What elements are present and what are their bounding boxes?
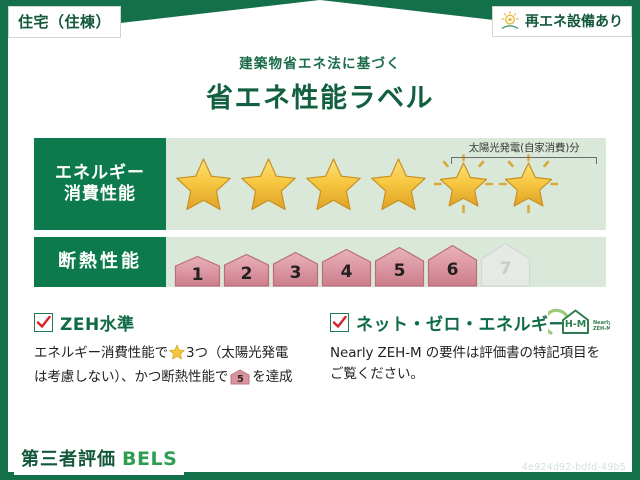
insulation-chips-body: 1 2 3 xyxy=(166,237,606,287)
evaluation-date: 評価日 2025年6月27日 xyxy=(465,440,626,460)
nze-note-title: ネット・ゼロ・エネルギー xyxy=(356,310,566,335)
zeh-body-star-count: 3つ（太陽光発電 xyxy=(186,345,288,361)
metric-rows: エネルギー 消費性能 太陽光発電(自家消費)分 xyxy=(34,138,606,294)
nze-note: ネット・ゼロ・エネルギー H-M Nearly ZEH-M Nearly ZEH… xyxy=(330,310,610,388)
solar-annotation: 太陽光発電(自家消費)分 xyxy=(451,140,597,164)
zeh-note-title: ZEH水準 xyxy=(60,310,135,335)
nze-checkbox[interactable] xyxy=(330,313,349,332)
nze-note-header: ネット・ゼロ・エネルギー H-M Nearly ZEH-M xyxy=(330,310,610,335)
renewable-badge-label: 再エネ設備あり xyxy=(525,11,623,31)
evaluation-hash: 4e924d92-bdfd-49b5 xyxy=(465,462,626,473)
label-subtitle: 建築物省エネ法に基づく xyxy=(0,52,640,72)
insulation-chip-inactive: 7 xyxy=(480,242,531,287)
building-type-badge: 住宅（住棟） xyxy=(8,6,121,38)
solar-annotation-text: 太陽光発電(自家消費)分 xyxy=(451,140,597,155)
chip-value: 4 xyxy=(341,254,353,282)
star-filled xyxy=(302,153,365,215)
zeh-checkbox[interactable] xyxy=(34,313,53,332)
footer-meta: 評価日 2025年6月27日 4e924d92-bdfd-49b5 xyxy=(465,440,626,473)
insulation-chip: 4 xyxy=(321,248,372,287)
star-filled xyxy=(237,153,300,215)
sun-solar-icon xyxy=(499,10,521,32)
page-title: 省エネ性能ラベル xyxy=(0,76,640,115)
label-footer: 第三者評価 BELS ヴィラパルム 評価日 2025年6月27日 4e924d9… xyxy=(0,436,640,480)
bels-en-label: BELS xyxy=(122,448,177,470)
star-filled xyxy=(172,153,235,215)
insulation-chip: 6 xyxy=(427,244,478,287)
energy-label-root: 住宅（住棟） 再エネ設備あり 建築物省エネ法に基づく 省エネ性能ラベル xyxy=(0,0,640,480)
svg-text:H-M: H-M xyxy=(565,319,586,330)
zeh-note-body: エネルギー消費性能で3つ（太陽光発電は考慮しない）、かつ断熱性能で5を達成 xyxy=(34,343,314,388)
insulation-chip: 5 xyxy=(374,246,425,287)
energy-label-line1: エネルギー xyxy=(55,163,145,184)
svg-text:ZEH-M: ZEH-M xyxy=(593,326,610,332)
energy-performance-row: エネルギー 消費性能 太陽光発電(自家消費)分 xyxy=(34,138,606,230)
inline-star-icon xyxy=(169,344,185,367)
zeh-note-header: ZEH水準 xyxy=(34,310,314,335)
solar-bracket xyxy=(451,157,597,164)
insulation-label-text: 断熱性能 xyxy=(58,251,142,274)
zeh-m-logo-icon: H-M Nearly ZEH-M xyxy=(548,306,610,342)
chip-value: 3 xyxy=(290,255,302,283)
energy-stars-body: 太陽光発電(自家消費)分 xyxy=(166,138,606,230)
insulation-chip: 3 xyxy=(272,251,319,287)
bels-jp-label: 第三者評価 xyxy=(21,445,116,471)
zeh-body-part1: エネルギー消費性能で xyxy=(34,345,168,361)
nze-note-body: Nearly ZEH-M の要件は評価書の特記項目をご覧ください。 xyxy=(330,343,610,385)
chip-value: 5 xyxy=(394,253,406,281)
insulation-chip: 1 xyxy=(174,255,221,287)
bels-badge: 第三者評価 BELS xyxy=(14,442,184,475)
chip-value: 1 xyxy=(192,257,204,285)
star-filled xyxy=(367,153,430,215)
energy-label-line2: 消費性能 xyxy=(64,184,136,205)
notes-section: ZEH水準 エネルギー消費性能で3つ（太陽光発電は考慮しない）、かつ断熱性能で5… xyxy=(34,310,610,388)
insulation-performance-label: 断熱性能 xyxy=(34,237,166,287)
insulation-grade-chips: 1 2 3 xyxy=(166,237,531,287)
chip-value: 2 xyxy=(241,256,253,284)
zeh-note: ZEH水準 エネルギー消費性能で3つ（太陽光発電は考慮しない）、かつ断熱性能で5… xyxy=(34,310,314,388)
zeh-body-part2: は考慮しない）、かつ断熱性能で xyxy=(34,369,228,385)
renewable-equipment-badge: 再エネ設備あり xyxy=(492,6,632,37)
building-name: ヴィラパルム xyxy=(208,448,295,468)
zeh-body-part3: を達成 xyxy=(252,369,292,385)
chip-value: 7 xyxy=(500,251,512,279)
chip-value: 6 xyxy=(447,252,459,280)
insulation-performance-row: 断熱性能 1 xyxy=(34,237,606,287)
inline-chip-value: 5 xyxy=(230,372,250,388)
inline-grade-chip: 5 xyxy=(230,369,250,385)
insulation-chip: 2 xyxy=(223,253,270,287)
energy-performance-label: エネルギー 消費性能 xyxy=(34,138,166,230)
title-block: 建築物省エネ法に基づく 省エネ性能ラベル xyxy=(0,52,640,115)
